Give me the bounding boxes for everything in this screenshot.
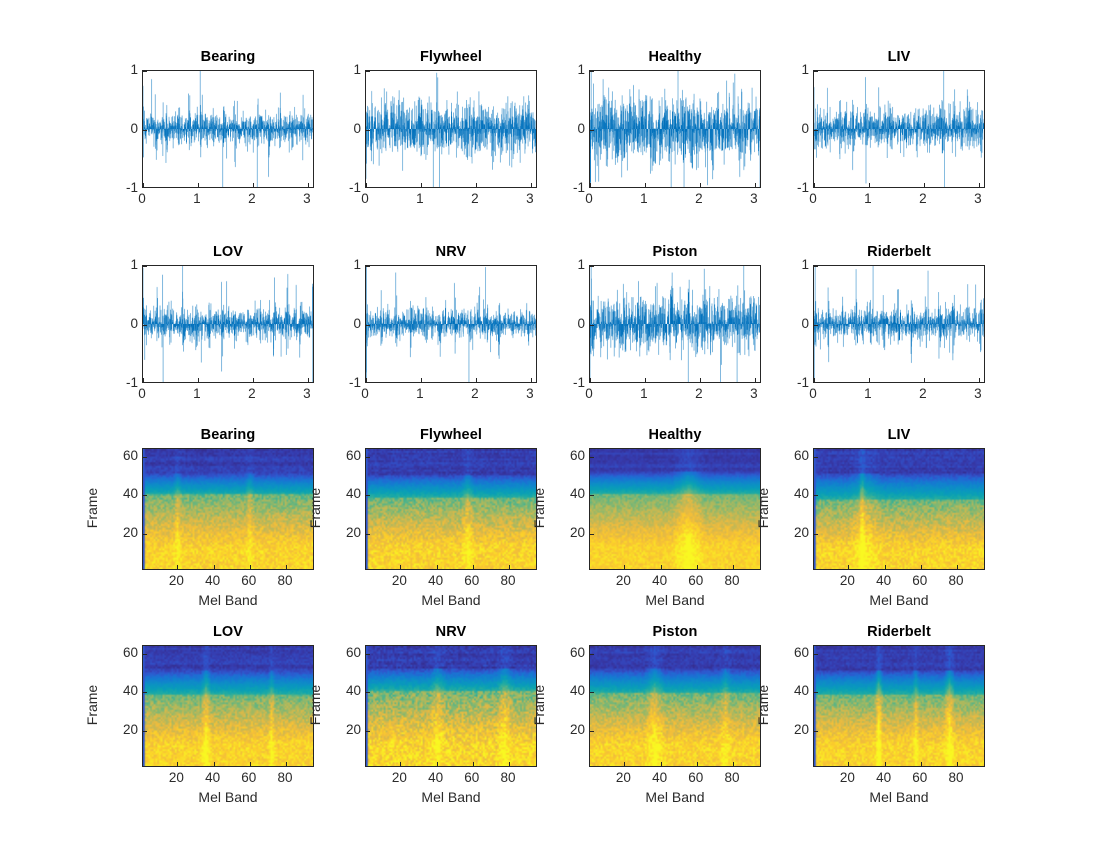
y-tick-label: 60: [123, 646, 138, 660]
y-tick-label: -1: [349, 181, 361, 195]
y-tick-label: 20: [570, 723, 585, 737]
x-axis-label: Mel Band: [589, 789, 761, 805]
axes-box: [142, 265, 314, 383]
x-tick-mark: [198, 183, 199, 187]
x-tick-mark: [421, 183, 422, 187]
x-tick-mark: [624, 762, 625, 766]
y-tick-label: 40: [123, 684, 138, 698]
x-tick-mark: [590, 183, 591, 187]
y-tick-mark: [814, 325, 818, 326]
y-tick-label: -1: [573, 376, 585, 390]
y-tick-label: 1: [353, 258, 361, 272]
x-tick-label: 80: [278, 771, 293, 785]
y-tick-label: 20: [123, 723, 138, 737]
waveform-panel-piston: Piston0123-101: [589, 265, 761, 383]
y-tick-label: 60: [123, 449, 138, 463]
x-tick-label: 60: [912, 574, 927, 588]
y-tick-label: 40: [346, 487, 361, 501]
panel-title: LIV: [813, 48, 985, 66]
x-axis-label: Mel Band: [365, 789, 537, 805]
x-tick-mark: [733, 565, 734, 569]
y-tick-mark: [814, 534, 818, 535]
y-tick-label: 1: [577, 63, 585, 77]
x-tick-label: 40: [652, 771, 667, 785]
x-tick-mark: [308, 378, 309, 382]
spectrogram-panel-lov: LOV20406080204060Mel BandFrame: [142, 645, 314, 767]
y-tick-mark: [590, 692, 594, 693]
x-tick-label: 1: [864, 192, 872, 206]
x-tick-label: 1: [193, 387, 201, 401]
x-tick-mark: [250, 565, 251, 569]
x-tick-label: 80: [501, 771, 516, 785]
x-tick-mark: [250, 762, 251, 766]
y-tick-mark: [590, 325, 594, 326]
y-tick-mark: [143, 130, 147, 131]
y-tick-mark: [590, 534, 594, 535]
x-tick-mark: [921, 565, 922, 569]
y-tick-label: 40: [570, 487, 585, 501]
x-tick-mark: [924, 183, 925, 187]
x-tick-label: 1: [640, 387, 648, 401]
x-tick-label: 0: [361, 387, 369, 401]
x-tick-mark: [733, 762, 734, 766]
spectrogram-panel-riderbelt: Riderbelt20406080204060Mel BandFrame: [813, 645, 985, 767]
x-axis-label: Mel Band: [813, 592, 985, 608]
waveform-trace: [366, 266, 536, 382]
y-tick-mark: [366, 495, 370, 496]
waveform-panel-bearing: Bearing0123-101: [142, 70, 314, 188]
x-tick-mark: [531, 183, 532, 187]
x-tick-label: 60: [688, 771, 703, 785]
x-tick-mark: [143, 378, 144, 382]
y-tick-label: 0: [801, 317, 809, 331]
x-tick-mark: [253, 378, 254, 382]
x-tick-mark: [590, 378, 591, 382]
y-tick-label: 20: [794, 526, 809, 540]
y-tick-label: 0: [577, 317, 585, 331]
x-tick-label: 3: [750, 387, 758, 401]
y-tick-mark: [814, 731, 818, 732]
waveform-panel-healthy: Healthy0123-101: [589, 70, 761, 188]
x-tick-mark: [661, 762, 662, 766]
y-tick-label: 0: [130, 122, 138, 136]
y-tick-label: 20: [346, 723, 361, 737]
x-tick-mark: [700, 378, 701, 382]
x-axis-label: Mel Band: [813, 789, 985, 805]
y-tick-mark: [366, 534, 370, 535]
panel-title: Bearing: [142, 48, 314, 66]
x-tick-mark: [421, 378, 422, 382]
x-tick-label: 3: [303, 192, 311, 206]
y-tick-label: 0: [801, 122, 809, 136]
x-tick-mark: [979, 183, 980, 187]
x-tick-mark: [814, 378, 815, 382]
panel-title: Flywheel: [365, 426, 537, 444]
spectrogram-panel-nrv: NRV20406080204060Mel BandFrame: [365, 645, 537, 767]
panel-title: Riderbelt: [813, 243, 985, 261]
y-tick-label: 60: [794, 449, 809, 463]
x-tick-label: 40: [205, 574, 220, 588]
axes-box: [589, 448, 761, 570]
axes-box: [813, 70, 985, 188]
y-tick-mark: [143, 325, 147, 326]
y-axis-label: Frame: [531, 463, 547, 553]
x-tick-mark: [921, 762, 922, 766]
x-tick-mark: [869, 378, 870, 382]
y-axis-label: Frame: [307, 463, 323, 553]
spectrogram-image: [590, 646, 760, 766]
y-axis-label: Frame: [307, 660, 323, 750]
y-tick-mark: [143, 534, 147, 535]
x-tick-label: 60: [912, 771, 927, 785]
x-tick-label: 2: [695, 387, 703, 401]
x-tick-mark: [509, 565, 510, 569]
x-tick-mark: [143, 183, 144, 187]
x-tick-label: 3: [526, 387, 534, 401]
y-tick-mark: [814, 266, 818, 267]
x-tick-mark: [437, 762, 438, 766]
x-tick-label: 2: [471, 192, 479, 206]
x-axis-label: Mel Band: [142, 789, 314, 805]
x-tick-label: 0: [809, 387, 817, 401]
waveform-panel-nrv: NRV0123-101: [365, 265, 537, 383]
panel-title: Flywheel: [365, 48, 537, 66]
x-tick-mark: [400, 565, 401, 569]
axes-box: [813, 448, 985, 570]
y-tick-mark: [143, 495, 147, 496]
waveform-trace: [590, 71, 760, 187]
x-tick-label: 40: [205, 771, 220, 785]
x-tick-label: 20: [616, 771, 631, 785]
x-tick-mark: [755, 183, 756, 187]
x-tick-label: 20: [840, 771, 855, 785]
panel-title: LIV: [813, 426, 985, 444]
x-tick-mark: [814, 183, 815, 187]
waveform-panel-liv: LIV0123-101: [813, 70, 985, 188]
panel-title: Piston: [589, 243, 761, 261]
x-tick-label: 80: [949, 771, 964, 785]
y-axis-label: Frame: [84, 660, 100, 750]
y-tick-label: -1: [797, 181, 809, 195]
x-tick-label: 1: [416, 387, 424, 401]
x-tick-label: 0: [361, 192, 369, 206]
x-tick-label: 0: [585, 387, 593, 401]
x-tick-label: 2: [248, 192, 256, 206]
spectrogram-image: [366, 646, 536, 766]
waveform-trace: [814, 266, 984, 382]
x-tick-mark: [476, 183, 477, 187]
x-tick-mark: [957, 565, 958, 569]
x-tick-mark: [473, 565, 474, 569]
x-tick-mark: [624, 565, 625, 569]
y-tick-mark: [366, 654, 370, 655]
waveform-trace: [143, 71, 313, 187]
panel-title: Healthy: [589, 426, 761, 444]
panel-title: LOV: [142, 623, 314, 641]
x-tick-label: 1: [640, 192, 648, 206]
x-tick-label: 60: [688, 574, 703, 588]
y-tick-mark: [366, 325, 370, 326]
y-tick-mark: [143, 71, 147, 72]
waveform-trace: [814, 71, 984, 187]
spectrogram-panel-piston: Piston20406080204060Mel BandFrame: [589, 645, 761, 767]
axes-box: [142, 448, 314, 570]
x-tick-mark: [253, 183, 254, 187]
axes-box: [813, 645, 985, 767]
x-tick-label: 1: [193, 192, 201, 206]
y-tick-mark: [590, 495, 594, 496]
x-tick-label: 40: [428, 574, 443, 588]
x-tick-label: 20: [392, 771, 407, 785]
y-tick-mark: [366, 731, 370, 732]
axes-box: [365, 70, 537, 188]
y-tick-label: 1: [353, 63, 361, 77]
y-tick-label: 40: [570, 684, 585, 698]
spectrogram-image: [143, 449, 313, 569]
x-tick-label: 0: [809, 192, 817, 206]
x-tick-mark: [286, 762, 287, 766]
y-tick-label: 40: [794, 487, 809, 501]
y-axis-label: Frame: [531, 660, 547, 750]
x-tick-label: 80: [501, 574, 516, 588]
x-tick-label: 2: [919, 387, 927, 401]
x-tick-label: 40: [428, 771, 443, 785]
y-tick-mark: [814, 71, 818, 72]
x-tick-label: 2: [695, 192, 703, 206]
y-tick-label: 20: [570, 526, 585, 540]
x-tick-label: 3: [750, 192, 758, 206]
axes-box: [142, 70, 314, 188]
waveform-trace: [590, 266, 760, 382]
x-tick-mark: [645, 378, 646, 382]
spectrogram-panel-flywheel: Flywheel20406080204060Mel BandFrame: [365, 448, 537, 570]
x-tick-mark: [366, 378, 367, 382]
y-tick-mark: [814, 457, 818, 458]
x-tick-label: 2: [919, 192, 927, 206]
axes-box: [365, 265, 537, 383]
x-tick-label: 60: [241, 574, 256, 588]
spectrogram-image: [814, 646, 984, 766]
x-tick-label: 80: [725, 771, 740, 785]
x-tick-mark: [885, 565, 886, 569]
x-tick-label: 0: [138, 192, 146, 206]
x-tick-label: 3: [974, 387, 982, 401]
x-tick-mark: [177, 565, 178, 569]
x-tick-label: 60: [464, 574, 479, 588]
x-tick-mark: [400, 762, 401, 766]
y-tick-mark: [366, 692, 370, 693]
y-tick-label: 60: [570, 449, 585, 463]
panel-title: Piston: [589, 623, 761, 641]
y-tick-mark: [814, 654, 818, 655]
x-tick-mark: [848, 762, 849, 766]
spectrogram-panel-liv: LIV20406080204060Mel BandFrame: [813, 448, 985, 570]
y-tick-label: 1: [577, 258, 585, 272]
y-tick-label: 40: [794, 684, 809, 698]
panel-title: LOV: [142, 243, 314, 261]
y-tick-label: 60: [346, 449, 361, 463]
axes-box: [142, 645, 314, 767]
x-tick-label: 20: [392, 574, 407, 588]
y-tick-mark: [590, 130, 594, 131]
matlab-figure-canvas: Bearing0123-101Flywheel0123-101Healthy01…: [0, 0, 1103, 862]
spectrogram-image: [590, 449, 760, 569]
x-tick-mark: [979, 378, 980, 382]
y-tick-label: -1: [797, 376, 809, 390]
x-tick-mark: [509, 762, 510, 766]
x-tick-label: 80: [949, 574, 964, 588]
y-tick-label: -1: [126, 376, 138, 390]
y-tick-mark: [590, 457, 594, 458]
y-tick-label: -1: [349, 376, 361, 390]
waveform-panel-flywheel: Flywheel0123-101: [365, 70, 537, 188]
panel-title: NRV: [365, 623, 537, 641]
x-tick-label: 1: [864, 387, 872, 401]
y-tick-label: 1: [130, 258, 138, 272]
y-tick-label: 20: [346, 526, 361, 540]
x-tick-mark: [697, 762, 698, 766]
x-tick-mark: [957, 762, 958, 766]
x-tick-label: 80: [278, 574, 293, 588]
y-tick-label: 40: [123, 487, 138, 501]
y-tick-label: 60: [570, 646, 585, 660]
x-tick-label: 60: [464, 771, 479, 785]
x-tick-label: 2: [248, 387, 256, 401]
x-tick-mark: [885, 762, 886, 766]
y-tick-mark: [366, 71, 370, 72]
x-tick-mark: [308, 183, 309, 187]
y-tick-mark: [366, 457, 370, 458]
x-tick-label: 40: [876, 771, 891, 785]
x-tick-label: 0: [138, 387, 146, 401]
axes-box: [365, 448, 537, 570]
y-tick-mark: [143, 731, 147, 732]
x-tick-label: 80: [725, 574, 740, 588]
y-tick-mark: [366, 266, 370, 267]
spectrogram-image: [143, 646, 313, 766]
x-tick-label: 3: [526, 192, 534, 206]
x-tick-label: 20: [840, 574, 855, 588]
y-tick-label: 0: [130, 317, 138, 331]
x-tick-label: 20: [169, 574, 184, 588]
x-tick-label: 40: [652, 574, 667, 588]
y-tick-mark: [143, 654, 147, 655]
y-tick-label: 0: [353, 317, 361, 331]
x-tick-mark: [177, 762, 178, 766]
x-tick-mark: [869, 183, 870, 187]
x-tick-mark: [755, 378, 756, 382]
x-tick-label: 40: [876, 574, 891, 588]
x-tick-mark: [531, 378, 532, 382]
panel-title: NRV: [365, 243, 537, 261]
spectrogram-image: [814, 449, 984, 569]
y-tick-mark: [590, 266, 594, 267]
y-tick-mark: [143, 692, 147, 693]
x-tick-label: 0: [585, 192, 593, 206]
waveform-trace: [143, 266, 313, 382]
x-tick-label: 60: [241, 771, 256, 785]
x-tick-mark: [697, 565, 698, 569]
x-tick-mark: [437, 565, 438, 569]
waveform-panel-lov: LOV0123-101: [142, 265, 314, 383]
y-axis-label: Frame: [755, 463, 771, 553]
x-tick-mark: [924, 378, 925, 382]
y-tick-label: 0: [353, 122, 361, 136]
y-tick-mark: [366, 130, 370, 131]
y-tick-label: 0: [577, 122, 585, 136]
x-tick-mark: [198, 378, 199, 382]
y-tick-mark: [143, 457, 147, 458]
axes-box: [365, 645, 537, 767]
x-tick-label: 3: [303, 387, 311, 401]
axes-box: [589, 265, 761, 383]
y-tick-mark: [590, 654, 594, 655]
axes-box: [589, 645, 761, 767]
axes-box: [589, 70, 761, 188]
y-tick-mark: [814, 692, 818, 693]
x-tick-label: 3: [974, 192, 982, 206]
y-tick-label: 1: [801, 258, 809, 272]
x-tick-mark: [848, 565, 849, 569]
x-tick-mark: [286, 565, 287, 569]
x-axis-label: Mel Band: [589, 592, 761, 608]
y-tick-label: -1: [126, 181, 138, 195]
y-tick-mark: [814, 495, 818, 496]
axes-box: [813, 265, 985, 383]
x-tick-mark: [661, 565, 662, 569]
y-tick-label: 60: [346, 646, 361, 660]
panel-title: Riderbelt: [813, 623, 985, 641]
panel-title: Bearing: [142, 426, 314, 444]
y-tick-mark: [590, 71, 594, 72]
y-tick-label: 1: [801, 63, 809, 77]
x-axis-label: Mel Band: [365, 592, 537, 608]
x-axis-label: Mel Band: [142, 592, 314, 608]
x-tick-label: 2: [471, 387, 479, 401]
y-tick-label: -1: [573, 181, 585, 195]
y-tick-label: 20: [123, 526, 138, 540]
x-tick-label: 1: [416, 192, 424, 206]
spectrogram-image: [366, 449, 536, 569]
y-tick-label: 20: [794, 723, 809, 737]
x-tick-mark: [700, 183, 701, 187]
y-tick-mark: [814, 130, 818, 131]
x-tick-mark: [366, 183, 367, 187]
x-tick-label: 20: [169, 771, 184, 785]
y-axis-label: Frame: [755, 660, 771, 750]
x-tick-label: 20: [616, 574, 631, 588]
x-tick-mark: [214, 565, 215, 569]
y-axis-label: Frame: [84, 463, 100, 553]
waveform-trace: [366, 71, 536, 187]
spectrogram-panel-bearing: Bearing20406080204060Mel BandFrame: [142, 448, 314, 570]
x-tick-mark: [473, 762, 474, 766]
x-tick-mark: [214, 762, 215, 766]
panel-title: Healthy: [589, 48, 761, 66]
y-tick-mark: [143, 266, 147, 267]
spectrogram-panel-healthy: Healthy20406080204060Mel BandFrame: [589, 448, 761, 570]
x-tick-mark: [476, 378, 477, 382]
y-tick-mark: [590, 731, 594, 732]
y-tick-label: 1: [130, 63, 138, 77]
waveform-panel-riderbelt: Riderbelt0123-101: [813, 265, 985, 383]
x-tick-mark: [645, 183, 646, 187]
y-tick-label: 40: [346, 684, 361, 698]
y-tick-label: 60: [794, 646, 809, 660]
